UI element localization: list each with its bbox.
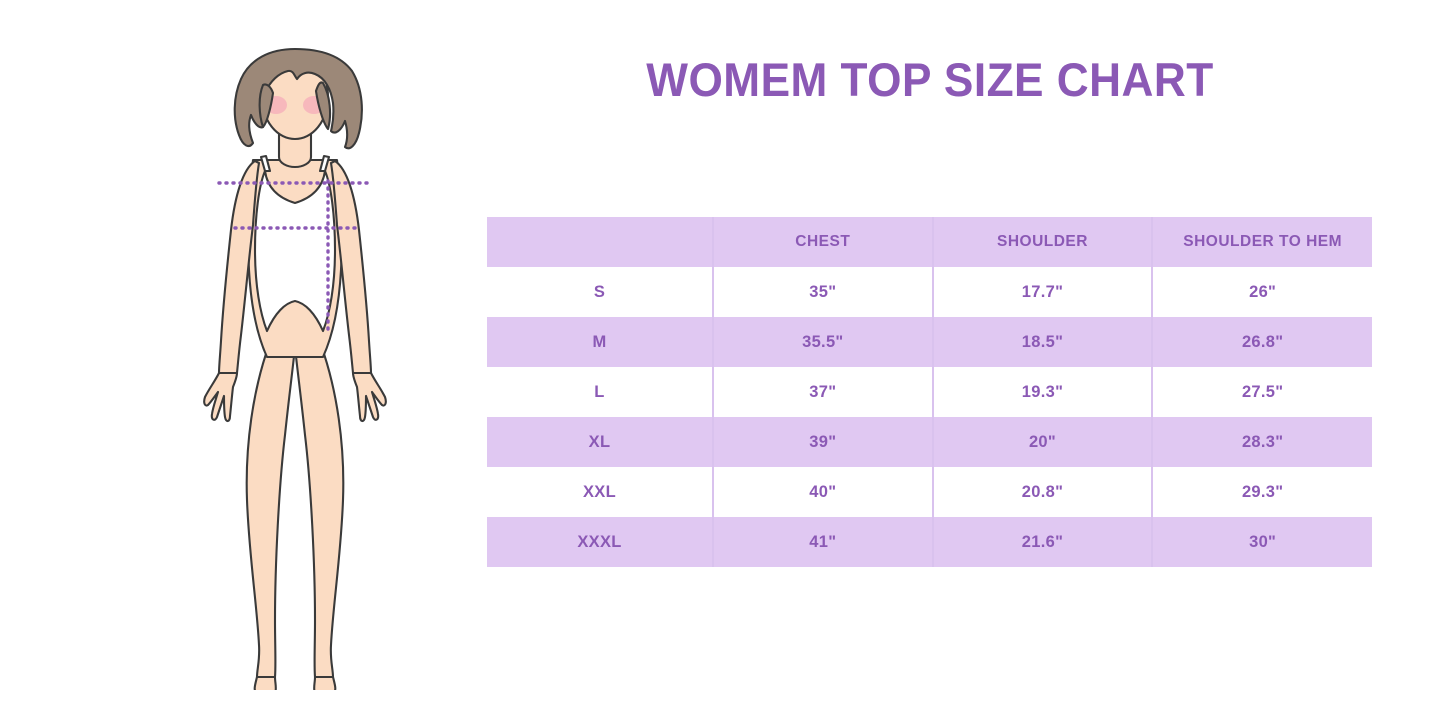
- table-header-row: CHEST SHOULDER SHOULDER TO HEM: [487, 217, 1372, 267]
- column-header-size: [487, 217, 713, 267]
- cell-shoulder-to-hem: 27.5": [1152, 367, 1372, 417]
- cell-chest: 37": [713, 367, 933, 417]
- cell-size: XXXL: [487, 517, 713, 567]
- cell-size: S: [487, 267, 713, 317]
- cell-size: M: [487, 317, 713, 367]
- page-title: WOMEM TOP SIZE CHART: [498, 52, 1363, 107]
- illustration-panel: SHOULDER CHEST SHOULDER TO HEM: [0, 0, 470, 723]
- cell-size: XL: [487, 417, 713, 467]
- cell-shoulder-to-hem: 29.3": [1152, 467, 1372, 517]
- cell-size: XXL: [487, 467, 713, 517]
- hand-right: [353, 373, 386, 421]
- cell-shoulder-to-hem: 26.8": [1152, 317, 1372, 367]
- cell-shoulder-to-hem: 28.3": [1152, 417, 1372, 467]
- cell-shoulder: 21.6": [933, 517, 1153, 567]
- cell-shoulder: 20": [933, 417, 1153, 467]
- leg-left: [247, 345, 295, 677]
- table-row: XXXL 41" 21.6" 30": [487, 517, 1372, 567]
- size-chart-table: CHEST SHOULDER SHOULDER TO HEM S 35" 17.…: [487, 217, 1372, 567]
- table-row: XXL 40" 20.8" 29.3": [487, 467, 1372, 517]
- cell-shoulder: 17.7": [933, 267, 1153, 317]
- table-row: S 35" 17.7" 26": [487, 267, 1372, 317]
- cell-chest: 35.5": [713, 317, 933, 367]
- cell-chest: 40": [713, 467, 933, 517]
- cell-shoulder: 20.8": [933, 467, 1153, 517]
- column-header-shoulder-to-hem: SHOULDER TO HEM: [1152, 217, 1372, 267]
- column-header-shoulder: SHOULDER: [933, 217, 1153, 267]
- hand-left: [204, 373, 237, 421]
- foot-left: [255, 677, 276, 690]
- leg-right: [295, 345, 343, 677]
- cell-size: L: [487, 367, 713, 417]
- cell-chest: 35": [713, 267, 933, 317]
- table-row: M 35.5" 18.5" 26.8": [487, 317, 1372, 367]
- cell-shoulder: 18.5": [933, 317, 1153, 367]
- cell-shoulder-to-hem: 26": [1152, 267, 1372, 317]
- female-figure-illustration: [175, 45, 415, 690]
- cell-chest: 41": [713, 517, 933, 567]
- cell-shoulder-to-hem: 30": [1152, 517, 1372, 567]
- cell-shoulder: 19.3": [933, 367, 1153, 417]
- table-row: L 37" 19.3" 27.5": [487, 367, 1372, 417]
- foot-right: [314, 677, 335, 690]
- table-row: XL 39" 20" 28.3": [487, 417, 1372, 467]
- cell-chest: 39": [713, 417, 933, 467]
- column-header-chest: CHEST: [713, 217, 933, 267]
